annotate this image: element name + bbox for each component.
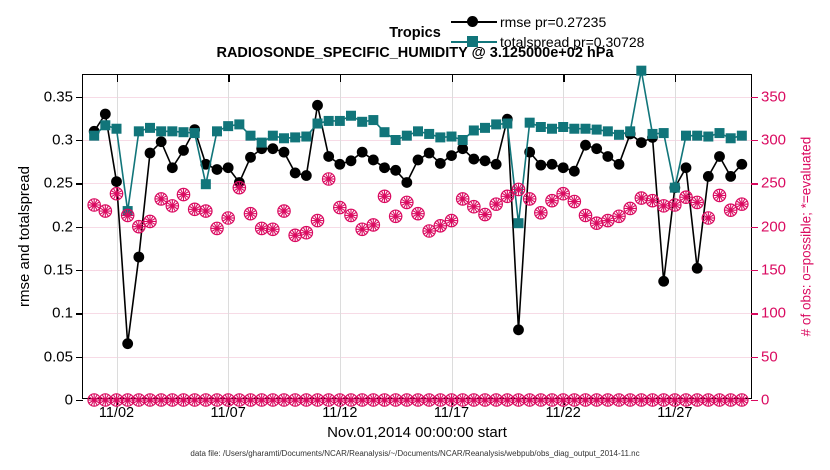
totalspread-point bbox=[290, 132, 300, 142]
y-axis-left-tick-label: 0.35 bbox=[44, 88, 73, 105]
totalspread-point bbox=[692, 131, 702, 141]
totalspread-point bbox=[581, 124, 591, 134]
totalspread-point bbox=[368, 115, 378, 125]
rmse-point bbox=[547, 159, 558, 170]
totalspread-point bbox=[648, 129, 658, 139]
rmse-point bbox=[290, 168, 301, 179]
y-axis-right-tick-label: 150 bbox=[761, 262, 786, 279]
x-axis-tick-label: 11/12 bbox=[322, 405, 357, 421]
series-totalspread bbox=[89, 66, 747, 229]
x-axis-tick-label: 11/02 bbox=[99, 405, 134, 421]
totalspread-point bbox=[480, 123, 490, 133]
totalspread-point bbox=[603, 126, 613, 136]
totalspread-point bbox=[659, 128, 669, 138]
y-axis-right-tick bbox=[751, 400, 758, 401]
x-axis-title: Nov.01,2014 00:00:00 start bbox=[82, 424, 752, 441]
y-axis-left-tick bbox=[76, 270, 83, 271]
totalspread-point bbox=[112, 124, 122, 134]
rmse-point bbox=[480, 155, 491, 166]
rmse-point bbox=[212, 164, 223, 175]
y-axis-left-title: rmse and totalspread bbox=[14, 74, 34, 399]
series-obs-possible bbox=[88, 173, 748, 242]
rmse-point bbox=[122, 338, 133, 349]
y-axis-left-tick bbox=[76, 313, 83, 314]
rmse-point bbox=[446, 150, 457, 161]
totalspread-point bbox=[592, 125, 602, 135]
rmse-point bbox=[334, 159, 345, 170]
rmse-point bbox=[156, 136, 167, 147]
totalspread-point bbox=[324, 116, 334, 126]
totalspread-point bbox=[402, 131, 412, 141]
y-axis-left-tick bbox=[76, 183, 83, 184]
plot-area: 00.050.10.150.20.250.30.3505010015020025… bbox=[82, 74, 752, 399]
totalspread-point bbox=[636, 66, 646, 76]
rmse-point bbox=[491, 159, 502, 170]
totalspread-point bbox=[301, 132, 311, 142]
totalspread-point bbox=[569, 124, 579, 134]
title-variable: RADIOSONDE_SPECIFIC_HUMIDITY @ 3.125000e… bbox=[0, 43, 830, 63]
totalspread-point bbox=[357, 117, 367, 127]
y-axis-right-tick-label: 200 bbox=[761, 218, 786, 235]
y-axis-left-tick bbox=[76, 140, 83, 141]
totalspread-point bbox=[726, 133, 736, 143]
totalspread-point bbox=[100, 120, 110, 130]
legend-label-totalspread: totalspread pr=0.30728 bbox=[500, 34, 644, 50]
y-axis-left-tick-label: 0.2 bbox=[52, 218, 73, 235]
totalspread-point bbox=[558, 122, 568, 132]
totalspread-point bbox=[234, 119, 244, 129]
y-axis-left-tick-label: 0 bbox=[65, 392, 73, 409]
rmse-point bbox=[279, 147, 290, 158]
y-axis-left-tick-label: 0.1 bbox=[52, 305, 73, 322]
totalspread-point bbox=[413, 126, 423, 136]
rmse-point bbox=[413, 155, 424, 166]
x-axis-tick-label: 11/07 bbox=[211, 405, 246, 421]
y-axis-left-tick-label: 0.15 bbox=[44, 262, 73, 279]
totalspread-point bbox=[190, 128, 200, 138]
totalspread-point bbox=[447, 132, 457, 142]
rmse-point bbox=[245, 152, 256, 163]
rmse-point bbox=[379, 162, 390, 173]
rmse-point bbox=[435, 158, 446, 169]
data-series-layer bbox=[83, 75, 753, 400]
rmse-point bbox=[312, 100, 323, 111]
rmse-point bbox=[636, 137, 647, 148]
totalspread-point bbox=[491, 119, 501, 129]
totalspread-point bbox=[380, 127, 390, 137]
y-axis-right-tick-label: 300 bbox=[761, 132, 786, 149]
title-region: Tropics bbox=[0, 24, 830, 43]
totalspread-point bbox=[89, 131, 99, 141]
totalspread-point bbox=[201, 179, 211, 189]
rmse-point bbox=[301, 170, 312, 181]
totalspread-point bbox=[469, 125, 479, 135]
legend-sample-rmse bbox=[451, 13, 497, 31]
y-axis-left-tick bbox=[76, 97, 83, 98]
totalspread-point bbox=[156, 126, 166, 136]
y-axis-right-title-text: # of obs: o=possible; *=evaluated bbox=[799, 137, 814, 337]
totalspread-point bbox=[134, 126, 144, 136]
y-axis-left-tick-label: 0.3 bbox=[52, 132, 73, 149]
totalspread-point bbox=[737, 131, 747, 141]
rmse-point bbox=[424, 148, 435, 159]
y-axis-left-tick-label: 0.25 bbox=[44, 175, 73, 192]
totalspread-point bbox=[212, 126, 222, 136]
y-axis-left-tick bbox=[76, 357, 83, 358]
rmse-point bbox=[468, 154, 479, 165]
totalspread-point bbox=[346, 111, 356, 121]
rmse-point bbox=[736, 159, 747, 170]
totalspread-point bbox=[223, 121, 233, 131]
rmse-point bbox=[725, 171, 736, 182]
rmse-point bbox=[580, 140, 591, 151]
legend-entry-rmse[interactable]: rmse pr=0.27235 bbox=[451, 12, 644, 32]
totalspread-point bbox=[268, 131, 278, 141]
legend-marker-circle-icon bbox=[467, 16, 478, 27]
rmse-point bbox=[368, 155, 379, 166]
rmse-point bbox=[167, 162, 178, 173]
rmse-point bbox=[357, 147, 368, 158]
figure-title: Tropics RADIOSONDE_SPECIFIC_HUMIDITY @ 3… bbox=[0, 24, 830, 63]
y-axis-left-tick-label: 0.05 bbox=[44, 348, 73, 365]
totalspread-point bbox=[525, 118, 535, 128]
y-axis-right-title: # of obs: o=possible; *=evaluated bbox=[796, 74, 816, 399]
legend: rmse pr=0.27235totalspread pr=0.30728 bbox=[447, 10, 648, 54]
rmse-point bbox=[401, 177, 412, 188]
totalspread-point bbox=[246, 131, 256, 141]
rmse-point bbox=[390, 165, 401, 176]
rmse-point bbox=[569, 166, 580, 177]
rmse-point bbox=[145, 148, 156, 159]
rmse-point bbox=[714, 151, 725, 162]
y-axis-left-title-text: rmse and totalspread bbox=[16, 166, 33, 307]
data-file-note: data file: /Users/gharamti/Documents/NCA… bbox=[0, 449, 830, 458]
totalspread-point bbox=[167, 126, 177, 136]
totalspread-point bbox=[715, 128, 725, 138]
legend-sample-totalspread bbox=[451, 33, 497, 51]
legend-marker-square-icon bbox=[467, 36, 478, 47]
totalspread-point bbox=[670, 183, 680, 193]
totalspread-point bbox=[514, 218, 524, 228]
rmse-point bbox=[133, 252, 144, 263]
totalspread-point bbox=[625, 126, 635, 136]
rmse-point bbox=[692, 263, 703, 274]
x-axis-tick-label: 11/17 bbox=[434, 405, 469, 421]
totalspread-point bbox=[145, 123, 155, 133]
totalspread-point bbox=[313, 119, 323, 129]
x-axis-tick-label: 11/27 bbox=[657, 405, 692, 421]
rmse-point bbox=[100, 109, 111, 120]
rmse-point bbox=[111, 176, 122, 187]
y-axis-right-tick-label: 250 bbox=[761, 175, 786, 192]
y-axis-left-tick bbox=[76, 227, 83, 228]
x-axis-tick-label: 11/22 bbox=[546, 405, 581, 421]
rmse-point bbox=[267, 143, 278, 154]
rmse-point bbox=[323, 151, 334, 162]
rmse-point bbox=[178, 145, 189, 156]
rmse-point bbox=[681, 162, 692, 173]
figure-root: Tropics RADIOSONDE_SPECIFIC_HUMIDITY @ 3… bbox=[0, 0, 830, 470]
rmse-point bbox=[513, 324, 524, 335]
totalspread-point bbox=[279, 133, 289, 143]
rmse-point bbox=[614, 159, 625, 170]
totalspread-point bbox=[257, 138, 267, 148]
totalspread-point bbox=[547, 124, 557, 134]
rmse-point bbox=[223, 162, 234, 173]
totalspread-point bbox=[391, 135, 401, 145]
totalspread-point bbox=[502, 119, 512, 129]
series-obs-evaluated bbox=[88, 394, 748, 406]
y-axis-right-tick-label: 50 bbox=[761, 348, 778, 365]
legend-entry-totalspread[interactable]: totalspread pr=0.30728 bbox=[451, 32, 644, 52]
totalspread-point bbox=[435, 132, 445, 142]
legend-label-rmse: rmse pr=0.27235 bbox=[500, 14, 606, 30]
y-axis-right-tick-label: 0 bbox=[761, 392, 769, 409]
totalspread-point bbox=[335, 116, 345, 126]
totalspread-point bbox=[614, 130, 624, 140]
totalspread-point bbox=[179, 127, 189, 137]
y-axis-left-tick bbox=[76, 400, 83, 401]
rmse-point bbox=[602, 151, 613, 162]
totalspread-point bbox=[424, 129, 434, 139]
y-axis-right-tick-label: 350 bbox=[761, 88, 786, 105]
rmse-point bbox=[658, 276, 669, 287]
rmse-point bbox=[591, 143, 602, 154]
rmse-point bbox=[558, 162, 569, 173]
totalspread-point bbox=[458, 135, 468, 145]
totalspread-point bbox=[536, 122, 546, 132]
rmse-point bbox=[346, 155, 357, 166]
rmse-point bbox=[535, 160, 546, 171]
totalspread-point bbox=[681, 131, 691, 141]
totalspread-point bbox=[703, 132, 713, 142]
y-axis-right-tick-label: 100 bbox=[761, 305, 786, 322]
rmse-point bbox=[703, 171, 714, 182]
